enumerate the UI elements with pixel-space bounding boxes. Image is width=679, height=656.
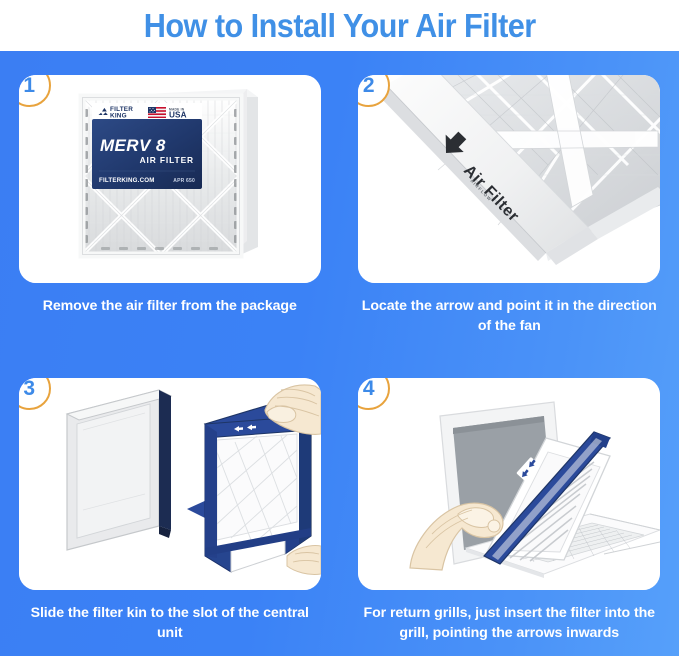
merv8-filter-illustration: FILTER KING — [19, 75, 321, 283]
step-4: 4 — [340, 354, 679, 656]
step-4-caption: For return grills, just insert the filte… — [359, 603, 659, 643]
slide-filter-into-slot-illustration — [19, 378, 321, 590]
filter-corner-arrow-illustration: Air Filter AIRFLOW — [358, 75, 660, 283]
product-label: FILTER KING — [92, 103, 202, 189]
step-2-card: 2 — [358, 75, 660, 283]
page-title: How to Install Your Air Filter — [144, 9, 536, 43]
step-2: 2 — [340, 51, 679, 354]
product-type-text: AIR FILTER — [139, 155, 193, 165]
step-2-caption: Locate the arrow and point it in the dir… — [359, 296, 659, 336]
apr-code-text: APR 650 — [173, 178, 195, 184]
central-unit-slot — [67, 390, 171, 550]
svg-text:USA: USA — [169, 111, 187, 120]
step-3-number: 3 — [23, 378, 35, 399]
step-1-card: 1 — [19, 75, 321, 283]
step-1-number: 1 — [23, 75, 35, 96]
step-2-number: 2 — [363, 75, 375, 96]
website-text: FILTERKING.COM — [99, 177, 155, 184]
step-3-caption: Slide the filter kin to the slot of the … — [20, 603, 320, 643]
step-1-caption: Remove the air filter from the package — [20, 296, 320, 316]
steps-grid: 1 — [0, 51, 679, 656]
insert-filter-into-return-grill-illustration — [358, 378, 660, 590]
header-band: How to Install Your Air Filter — [0, 0, 679, 51]
infographic-root: How to Install Your Air Filter 1 — [0, 0, 679, 656]
step-3: 3 — [0, 354, 340, 656]
step-4-card: 4 — [358, 378, 660, 590]
step-1: 1 — [0, 51, 340, 354]
step-4-number: 4 — [363, 378, 375, 399]
step-3-card: 3 — [19, 378, 321, 590]
svg-text:KING: KING — [110, 113, 127, 120]
merv-rating-text: MERV 8 — [100, 136, 166, 155]
